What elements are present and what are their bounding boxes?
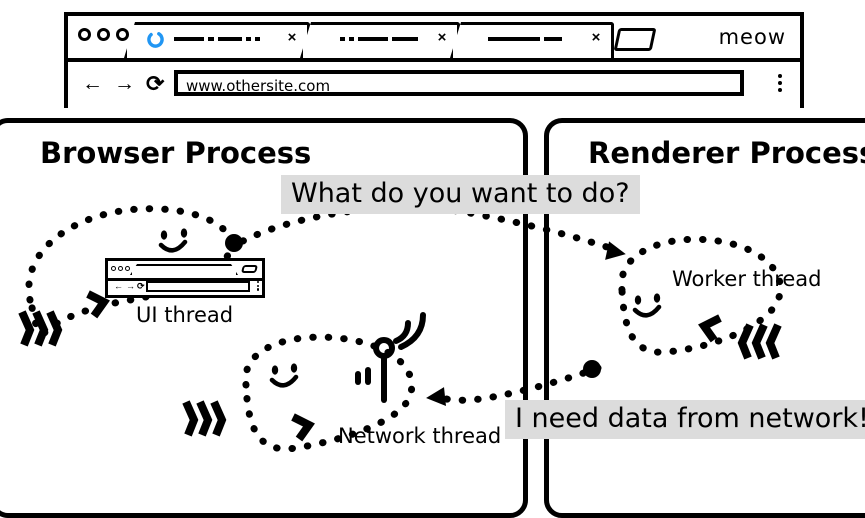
window-controls[interactable]	[78, 28, 129, 41]
mini-new-tab-icon	[241, 265, 258, 273]
tab-title-placeholder	[340, 37, 418, 41]
mini-kebab-icon	[257, 281, 259, 291]
address-input[interactable]: www.othersite.com	[186, 77, 330, 95]
tab-second[interactable]: ×	[300, 22, 460, 58]
worker-thread-label: Worker thread	[672, 267, 822, 291]
mini-address-bar	[146, 281, 250, 292]
tab-third[interactable]: ×	[450, 22, 614, 58]
browser-window: × × × meow ← → ⟳	[64, 12, 804, 108]
tab-title-placeholder	[174, 37, 260, 41]
tab-active[interactable]: ×	[124, 22, 310, 58]
kebab-menu-icon[interactable]	[778, 74, 782, 92]
address-bar[interactable]: www.othersite.com	[174, 70, 744, 96]
mini-window-controls	[111, 266, 130, 271]
window-dot-1[interactable]	[78, 28, 91, 41]
tab-close-icon[interactable]: ×	[589, 31, 603, 45]
reload-icon[interactable]: ⟳	[146, 74, 164, 94]
back-icon[interactable]: ←	[82, 74, 103, 94]
tab-close-icon[interactable]: ×	[285, 31, 299, 45]
mini-reload-icon: ⟳	[137, 282, 145, 291]
network-thread-label: Network thread	[338, 424, 501, 448]
browser-process-title: Browser Process	[40, 136, 311, 170]
message-what-do-you-want: What do you want to do?	[281, 175, 640, 214]
forward-icon[interactable]: →	[114, 74, 135, 94]
mini-browser-window-icon: ← → ⟳	[105, 258, 265, 298]
brand-label: meow	[719, 25, 786, 49]
mini-tab	[130, 264, 238, 275]
window-dot-2[interactable]	[97, 28, 110, 41]
renderer-process-title: Renderer Process	[588, 136, 865, 170]
ui-thread-label: UI thread	[136, 303, 233, 327]
navigation-bar: ← → ⟳ www.othersite.com	[68, 62, 800, 108]
tab-strip: × × × meow	[68, 16, 800, 62]
message-need-data: I need data from network!	[505, 400, 865, 439]
mini-back-icon: ←	[114, 282, 123, 291]
mini-navigation-bar: ← → ⟳	[108, 278, 262, 295]
tab-title-placeholder	[488, 37, 562, 41]
mini-forward-icon: →	[126, 282, 135, 291]
loading-spinner-icon	[146, 30, 165, 49]
new-tab-button[interactable]	[614, 28, 657, 51]
screenshot-root: × × × meow ← → ⟳	[0, 0, 865, 504]
tab-close-icon[interactable]: ×	[435, 31, 449, 45]
